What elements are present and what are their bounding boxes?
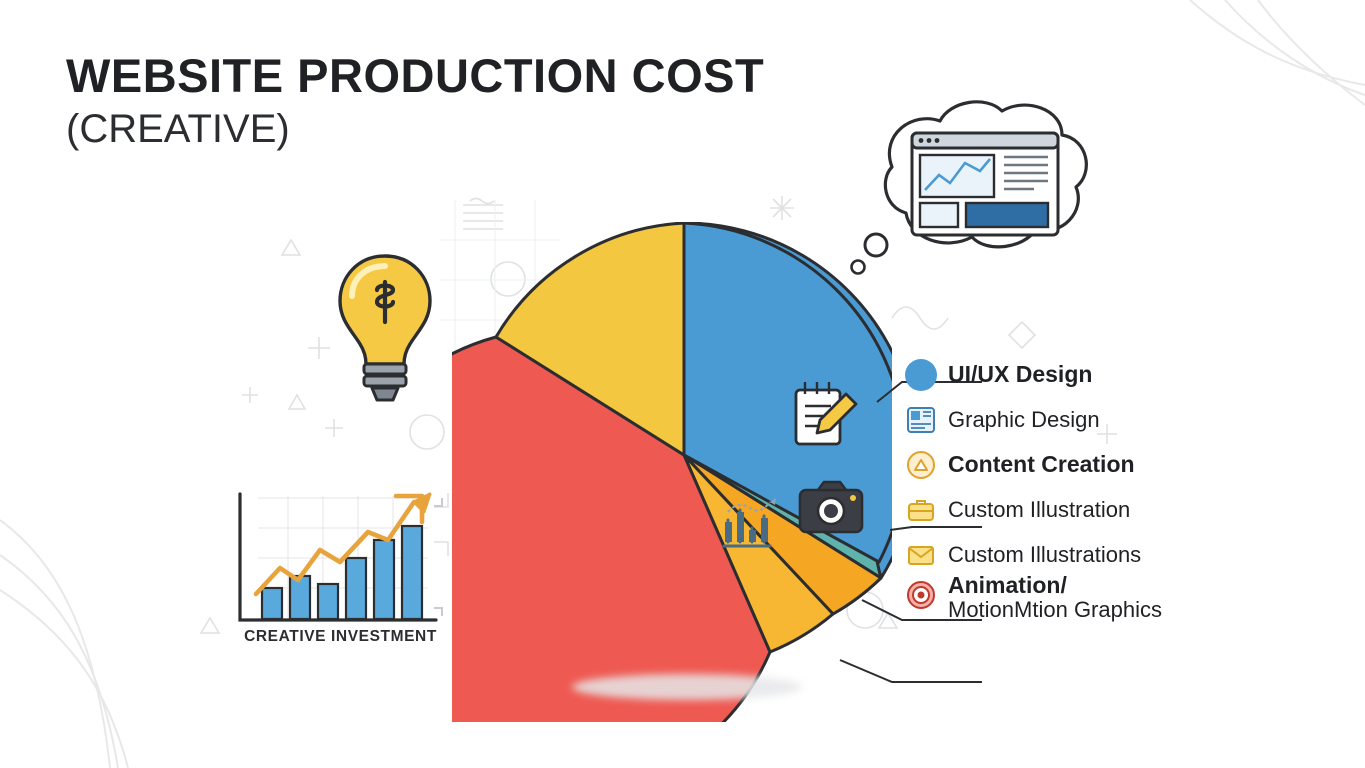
legend-label: Custom Illustrations (948, 542, 1141, 568)
lightbulb-dollar-icon (330, 248, 440, 413)
chart-legend: UI/UX Design Graphic Design Content Crea… (905, 352, 1335, 622)
legend-label-line2: MotionMtion Graphics (948, 597, 1162, 622)
title-subtitle: (CREATIVE) (66, 109, 764, 149)
legend-item-graphic-design[interactable]: Graphic Design (905, 397, 1335, 442)
slide-canvas: WEBSITE PRODUCTION COST (CREATIVE) (0, 0, 1365, 768)
legend-label: Custom Illustration (948, 497, 1130, 523)
briefcase-icon (905, 494, 937, 526)
graphic-design-icon (905, 404, 937, 436)
content-creation-icon (905, 449, 937, 481)
blue-dot-icon (905, 359, 937, 391)
pie-chart (452, 222, 892, 722)
legend-item-animation-motion-graphics[interactable]: Animation/ MotionMtion Graphics (905, 573, 1335, 622)
page-title: WEBSITE PRODUCTION COST (CREATIVE) (66, 52, 764, 149)
legend-label: Content Creation (948, 451, 1135, 478)
title-main: WEBSITE PRODUCTION COST (66, 52, 764, 99)
legend-item-custom-illustration[interactable]: Custom Illustration (905, 487, 1335, 532)
legend-label: Graphic Design (948, 407, 1100, 433)
legend-label: UI/UX Design (948, 361, 1092, 388)
creative-investment-caption: CREATIVE INVESTMENT (228, 628, 453, 646)
growth-bar-chart-icon: CREATIVE INVESTMENT (228, 488, 453, 673)
legend-label-line1: Animation/ (948, 572, 1067, 598)
pie-shadow (572, 674, 802, 700)
legend-item-custom-illustrations[interactable]: Custom Illustrations (905, 532, 1335, 577)
pie-chart-svg (452, 222, 892, 722)
envelope-icon (905, 539, 937, 571)
legend-label-multiline: Animation/ MotionMtion Graphics (948, 573, 1162, 622)
legend-item-ui-ux-design[interactable]: UI/UX Design (905, 352, 1335, 397)
legend-item-content-creation[interactable]: Content Creation (905, 442, 1335, 487)
animation-target-icon (905, 579, 937, 611)
